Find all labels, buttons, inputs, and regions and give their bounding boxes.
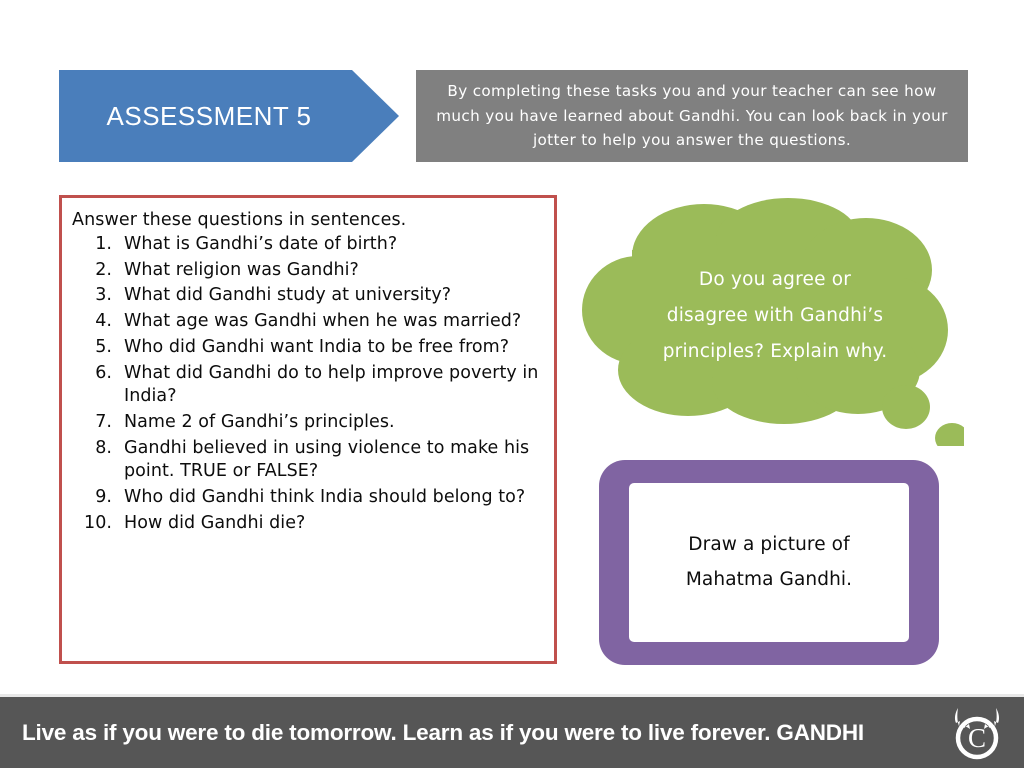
questions-lead-in: Answer these questions in sentences. [72,210,544,230]
instruction-box: By completing these tasks you and your t… [416,70,968,162]
draw-picture-box: Draw a picture of Mahatma Gandhi. [599,460,939,665]
question-text: Name 2 of Gandhi’s principles. [124,412,395,432]
question-item: 7. Name 2 of Gandhi’s principles. [72,411,544,435]
quote-text: Live as if you were to die tomorrow. Lea… [22,720,864,746]
question-item: 5. Who did Gandhi want India to be free … [72,336,544,360]
question-number: 3. [72,284,112,308]
question-number: 5. [72,336,112,360]
question-text: What did Gandhi study at university? [124,285,451,305]
thought-bubble: Do you agree or disagree with Gandhi’s p… [576,198,964,446]
assessment-title-chevron: ASSESSMENT 5 [59,70,399,162]
question-item: 9. Who did Gandhi think India should bel… [72,486,544,510]
draw-picture-line-2: Mahatma Gandhi. [686,563,852,597]
question-text: How did Gandhi die? [124,513,305,533]
thought-bubble-shape-icon [576,198,964,446]
question-item: 10. How did Gandhi die? [72,512,544,536]
question-text: What did Gandhi do to help improve pover… [124,363,538,407]
question-number: 9. [72,486,112,510]
question-number: 2. [72,259,112,283]
questions-list: 1. What is Gandhi’s date of birth? 2. Wh… [72,233,544,535]
draw-picture-canvas[interactable]: Draw a picture of Mahatma Gandhi. [629,483,909,642]
question-item: 8. Gandhi believed in using violence to … [72,437,544,484]
question-number: 8. [72,437,112,461]
chevron-shape-icon [59,70,399,162]
question-text: Who did Gandhi want India to be free fro… [124,337,509,357]
question-item: 6. What did Gandhi do to help improve po… [72,362,544,409]
question-item: 2. What religion was Gandhi? [72,259,544,283]
questions-panel: Answer these questions in sentences. 1. … [59,195,557,664]
moose-copyright-logo-icon: C [946,704,1008,762]
question-number: 4. [72,310,112,334]
question-item: 4. What age was Gandhi when he was marri… [72,310,544,334]
svg-text:C: C [968,723,986,753]
quote-banner: Live as if you were to die tomorrow. Lea… [0,697,1024,768]
question-text: What age was Gandhi when he was married? [124,311,521,331]
worksheet-page: ASSESSMENT 5 By completing these tasks y… [0,0,1024,768]
question-item: 3. What did Gandhi study at university? [72,284,544,308]
question-number: 10. [72,512,112,536]
question-text: Who did Gandhi think India should belong… [124,487,525,507]
question-text: What religion was Gandhi? [124,260,359,280]
question-number: 6. [72,362,112,386]
question-text: What is Gandhi’s date of birth? [124,234,397,254]
question-item: 1. What is Gandhi’s date of birth? [72,233,544,257]
question-text: Gandhi believed in using violence to mak… [124,438,529,482]
instruction-text: By completing these tasks you and your t… [430,79,954,153]
draw-picture-line-1: Draw a picture of [688,528,849,562]
question-number: 7. [72,411,112,435]
question-number: 1. [72,233,112,257]
